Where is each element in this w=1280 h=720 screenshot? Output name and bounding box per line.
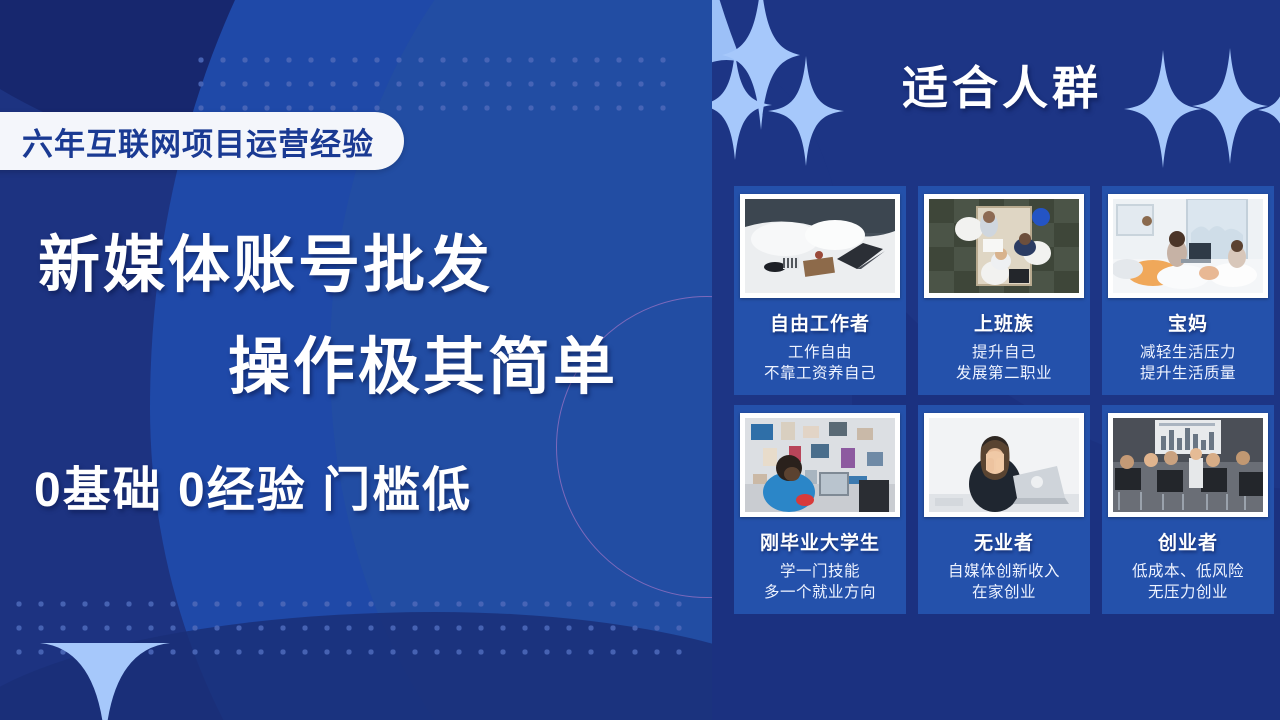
audience-card[interactable]: 刚毕业大学生 学一门技能 多一个就业方向 bbox=[734, 405, 906, 614]
classroom-lecture-photo bbox=[1108, 413, 1268, 517]
stressed-woman-laptop-photo bbox=[924, 413, 1084, 517]
card-title: 上班族 bbox=[974, 309, 1034, 336]
card-title: 无业者 bbox=[974, 528, 1034, 555]
kicker-pill: 六年互联网项目运营经验 bbox=[0, 112, 404, 170]
promo-banner: 六年互联网项目运营经验 新媒体账号批发 操作极其简单 0基础 0经验 门槛低 适… bbox=[0, 0, 1280, 720]
four-point-sparkle-icon bbox=[1192, 48, 1268, 164]
audience-card[interactable]: 宝妈 减轻生活压力 提升生活质量 bbox=[1102, 186, 1274, 395]
headline-line-2: 操作极其简单 bbox=[228, 316, 618, 406]
card-title: 自由工作者 bbox=[770, 309, 870, 336]
four-point-star-icon bbox=[40, 643, 170, 720]
mother-with-laptop-on-bed-photo bbox=[1108, 194, 1268, 298]
audience-card[interactable]: 创业者 低成本、低风险 无压力创业 bbox=[1102, 405, 1274, 614]
card-description: 提升自己 发展第二职业 bbox=[956, 342, 1052, 385]
office-meeting-topdown-photo bbox=[924, 194, 1084, 298]
kicker-label: 六年互联网项目运营经验 bbox=[22, 119, 374, 164]
card-description: 减轻生活压力 提升生活质量 bbox=[1140, 342, 1236, 385]
four-point-sparkle-icon bbox=[1124, 50, 1202, 168]
card-title: 创业者 bbox=[1158, 528, 1218, 555]
left-panel: 六年互联网项目运营经验 新媒体账号批发 操作极其简单 0基础 0经验 门槛低 bbox=[0, 0, 712, 720]
card-description: 学一门技能 多一个就业方向 bbox=[764, 561, 876, 604]
audience-card-grid: 自由工作者 工作自由 不靠工资养自己 bbox=[734, 186, 1274, 614]
dot-grid-icon bbox=[190, 48, 670, 122]
subheadline: 0基础 0经验 门槛低 bbox=[34, 450, 472, 520]
card-description: 低成本、低风险 无压力创业 bbox=[1132, 561, 1244, 604]
card-title: 刚毕业大学生 bbox=[760, 528, 880, 555]
student-at-desk-photo bbox=[740, 413, 900, 517]
card-description: 工作自由 不靠工资养自己 bbox=[764, 342, 876, 385]
audience-card[interactable]: 无业者 自媒体创新收入 在家创业 bbox=[918, 405, 1090, 614]
audience-card[interactable]: 上班族 提升自己 发展第二职业 bbox=[918, 186, 1090, 395]
audience-card[interactable]: 自由工作者 工作自由 不靠工资养自己 bbox=[734, 186, 906, 395]
headline-line-1: 新媒体账号批发 bbox=[38, 214, 493, 304]
laptop-on-bed-photo bbox=[740, 194, 900, 298]
four-point-sparkle-icon bbox=[712, 50, 772, 160]
four-point-sparkle-icon bbox=[768, 56, 844, 166]
section-title: 适合人群 bbox=[902, 52, 1102, 118]
four-point-sparkle-icon bbox=[1258, 62, 1280, 158]
card-title: 宝妈 bbox=[1168, 309, 1208, 336]
card-description: 自媒体创新收入 在家创业 bbox=[948, 561, 1060, 604]
right-panel: 适合人群 bbox=[712, 0, 1280, 720]
